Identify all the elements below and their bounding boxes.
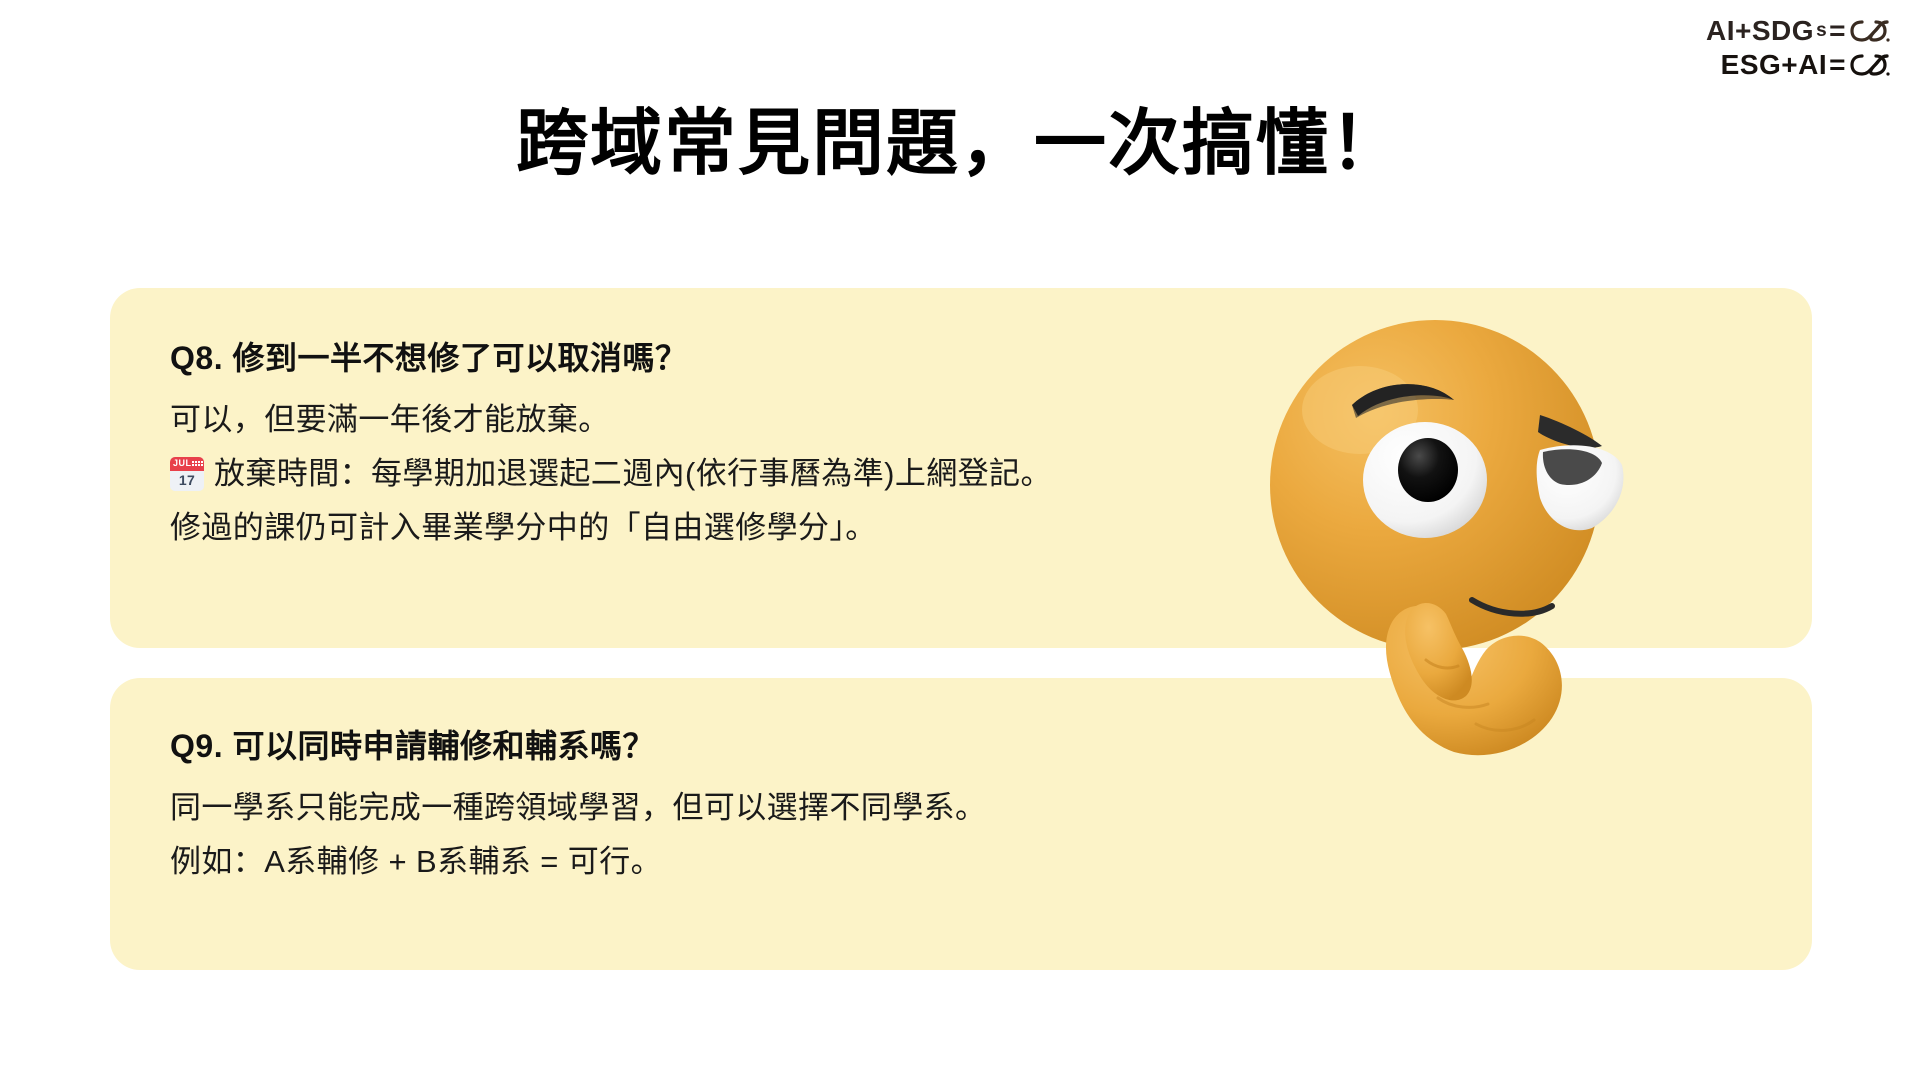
faq-answer-line: JUL 17 放棄時間：每學期加退選起二週內(依行事曆為準)上網登記。 [170, 450, 1752, 498]
brand-logo: AI+SDGs = ESG+AI = [1706, 14, 1890, 82]
calendar-icon-month: JUL [173, 457, 192, 471]
calendar-icon-day: 17 [170, 471, 204, 491]
infinity-icon [1850, 18, 1890, 44]
faq-answer-line: 修過的課仍可計入畢業學分中的「自由選修學分」。 [170, 504, 1752, 552]
faq-answer-line: 可以，但要滿一年後才能放棄。 [170, 396, 1752, 444]
page-title: 跨域常見問題，一次搞懂！ [0, 84, 1920, 189]
faq-card-q9: Q9. 可以同時申請輔修和輔系嗎？ 同一學系只能完成一種跨領域學習，但可以選擇不… [110, 678, 1812, 970]
calendar-icon: JUL 17 [170, 457, 204, 491]
faq-answer-text: 同一學系只能完成一種跨領域學習，但可以選擇不同學系。 [170, 784, 986, 832]
brand-logo-line-1-subscript: s [1816, 19, 1827, 42]
faq-answer-text: 可以，但要滿一年後才能放棄。 [170, 396, 610, 444]
faq-answer-text: 放棄時間：每學期加退選起二週內(依行事曆為準)上網登記。 [214, 450, 1052, 498]
faq-question-heading: Q8. 修到一半不想修了可以取消嗎？ [170, 338, 1752, 380]
brand-logo-line-1-text: AI+SDG [1706, 14, 1814, 48]
faq-answer-line: 同一學系只能完成一種跨領域學習，但可以選擇不同學系。 [170, 784, 1752, 832]
faq-answer-text: 例如：A系輔修 + B系輔系 = 可行。 [170, 838, 662, 886]
infinity-icon-2 [1850, 52, 1890, 78]
faq-answer-text: 修過的課仍可計入畢業學分中的「自由選修學分」。 [170, 504, 877, 552]
faq-card-q8: Q8. 修到一半不想修了可以取消嗎？ 可以，但要滿一年後才能放棄。 JUL 17… [110, 288, 1812, 648]
brand-logo-line-1-equals: = [1829, 14, 1846, 48]
calendar-icon-dots [192, 461, 203, 466]
brand-logo-line-2: ESG+AI = [1706, 48, 1890, 82]
faq-question-heading: Q9. 可以同時申請輔修和輔系嗎？ [170, 726, 1752, 768]
brand-logo-line-1: AI+SDGs = [1706, 14, 1890, 48]
brand-logo-line-2-text: ESG+AI [1721, 48, 1827, 82]
brand-logo-line-2-equals: = [1829, 48, 1846, 82]
faq-answer-line: 例如：A系輔修 + B系輔系 = 可行。 [170, 838, 1752, 886]
